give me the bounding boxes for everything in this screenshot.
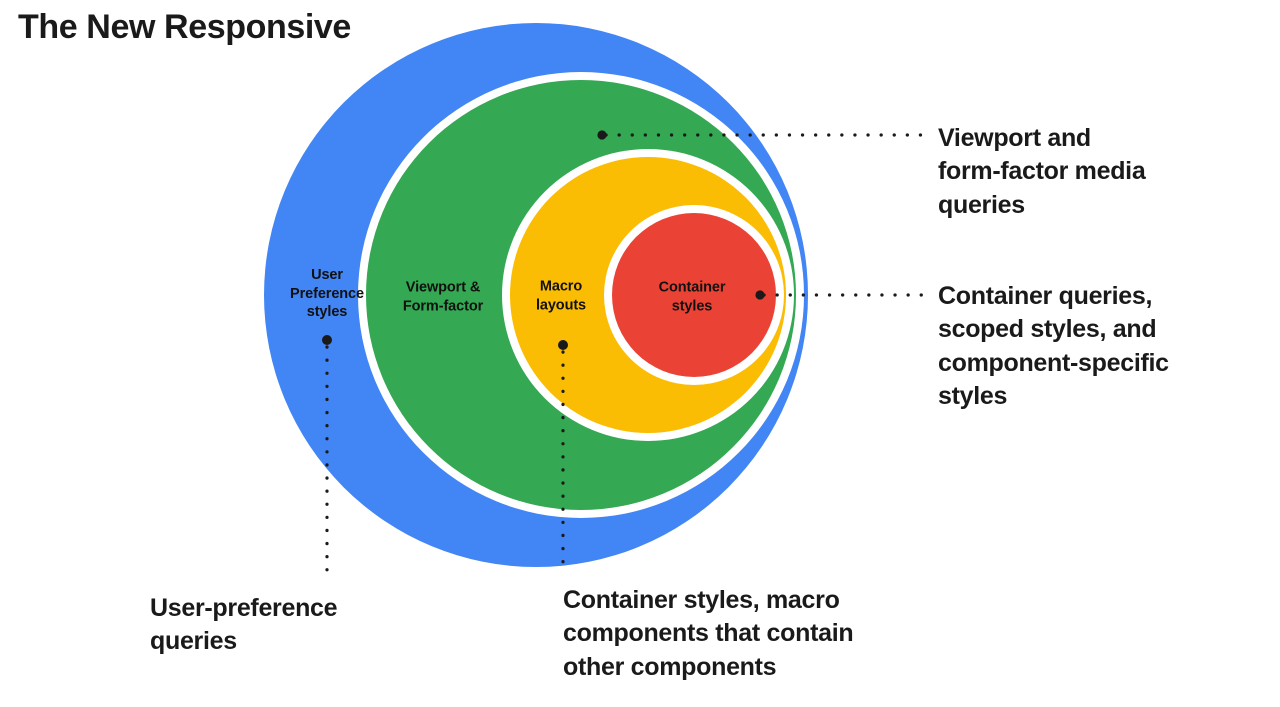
ring-circle-container-styles [612,213,776,377]
slide-canvas: The New Responsive User Preference style… [0,0,1280,707]
annotation-user-preference-queries: User-preference queries [150,592,450,659]
leader-dot-user-preference-queries [322,335,332,345]
annotation-container-macro-components: Container styles, macro components that … [563,584,993,684]
leader-dot-viewport-media-queries [597,130,606,139]
annotation-viewport-media-queries: Viewport and form-factor media queries [938,122,1258,222]
annotation-container-queries-scoped-styles: Container queries, scoped styles, and co… [938,280,1268,413]
leader-dot-container-queries [755,290,764,299]
leader-dot-container-macro-components [558,340,568,350]
